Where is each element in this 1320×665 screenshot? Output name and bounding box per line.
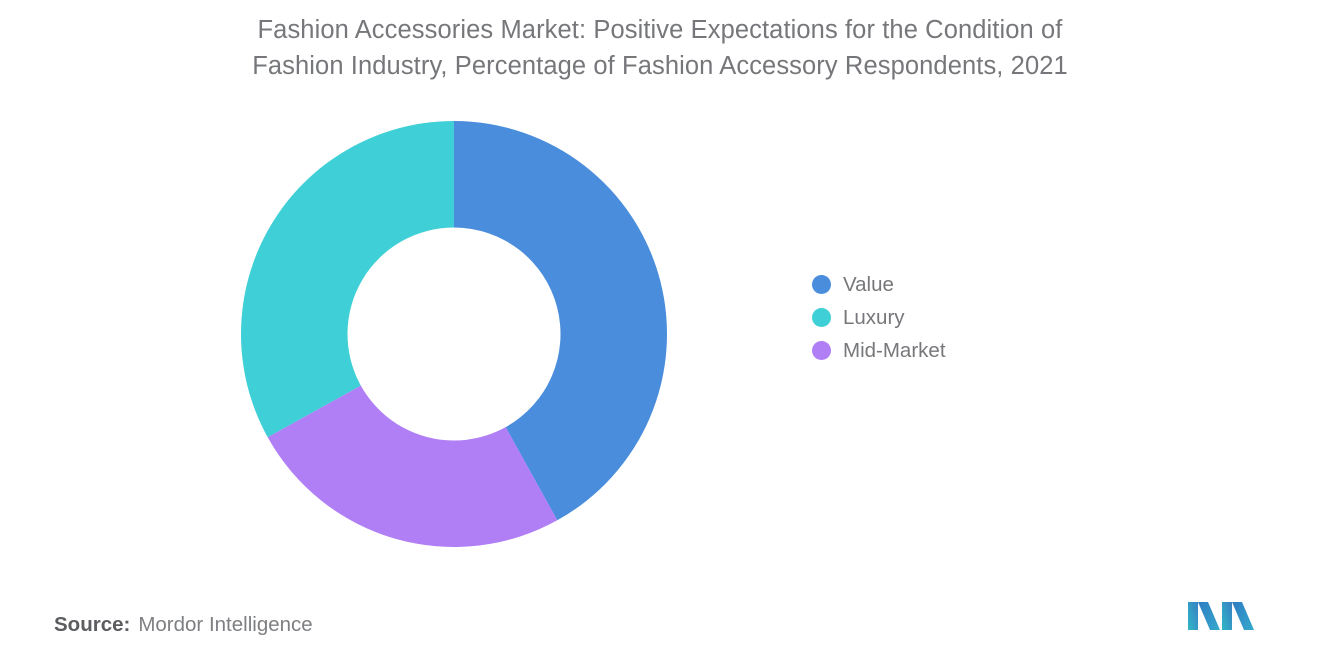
donut-slice-luxury[interactable] bbox=[241, 121, 454, 437]
legend-swatch-value bbox=[812, 275, 831, 294]
donut-slice-group bbox=[241, 121, 667, 547]
legend-swatch-luxury bbox=[812, 308, 831, 327]
chart-plot-area: Value Luxury Mid-Market bbox=[0, 100, 1320, 570]
legend-item-value[interactable]: Value bbox=[812, 268, 1112, 301]
legend-item-luxury[interactable]: Luxury bbox=[812, 301, 1112, 334]
mordor-intelligence-logo-icon bbox=[1186, 594, 1256, 638]
chart-legend: Value Luxury Mid-Market bbox=[812, 268, 1112, 367]
source-label: Source: bbox=[54, 612, 130, 638]
legend-label-mid-market: Mid-Market bbox=[843, 340, 946, 362]
source-value: Mordor Intelligence bbox=[138, 612, 312, 638]
legend-label-luxury: Luxury bbox=[843, 307, 905, 329]
donut-chart-svg bbox=[241, 121, 667, 547]
source-line: Source: Mordor Intelligence bbox=[54, 612, 313, 638]
page-title: Fashion Accessories Market: Positive Exp… bbox=[0, 12, 1320, 84]
legend-label-value: Value bbox=[843, 274, 894, 296]
mordor-intelligence-logo bbox=[1186, 594, 1256, 638]
legend-swatch-mid-market bbox=[812, 341, 831, 360]
page-title-line-1: Fashion Accessories Market: Positive Exp… bbox=[258, 16, 1063, 44]
page-title-line-2: Fashion Industry, Percentage of Fashion … bbox=[252, 52, 1068, 80]
donut-chart bbox=[241, 121, 667, 547]
legend-item-mid-market[interactable]: Mid-Market bbox=[812, 334, 1112, 367]
